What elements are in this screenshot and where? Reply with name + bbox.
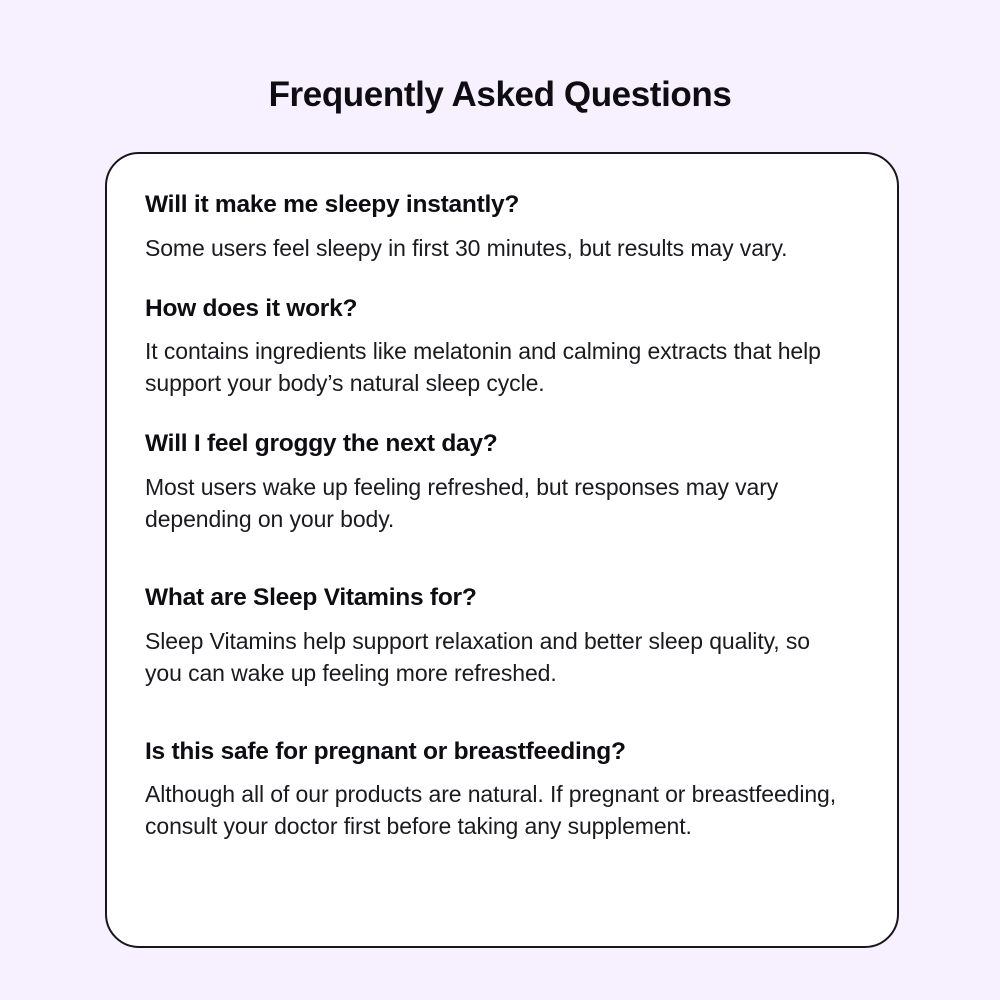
faq-item[interactable]: Will I feel groggy the next day? Most us…	[145, 429, 857, 535]
faq-list: Will it make me sleepy instantly? Some u…	[145, 190, 857, 842]
faq-answer: Although all of our products are natural…	[145, 778, 851, 842]
faq-item[interactable]: Is this safe for pregnant or breastfeedi…	[145, 737, 857, 843]
faq-answer: Sleep Vitamins help support relaxation a…	[145, 625, 851, 689]
faq-answer: Some users feel sleepy in first 30 minut…	[145, 232, 851, 264]
faq-question: How does it work?	[145, 294, 857, 325]
faq-item[interactable]: Will it make me sleepy instantly? Some u…	[145, 190, 857, 264]
faq-question: Is this safe for pregnant or breastfeedi…	[145, 737, 857, 768]
faq-answer: Most users wake up feeling refreshed, bu…	[145, 471, 851, 535]
faq-item[interactable]: What are Sleep Vitamins for? Sleep Vitam…	[145, 583, 857, 689]
faq-question: Will it make me sleepy instantly?	[145, 190, 857, 221]
faq-answer: It contains ingredients like melatonin a…	[145, 335, 851, 399]
faq-card: Will it make me sleepy instantly? Some u…	[105, 152, 899, 948]
faq-question: What are Sleep Vitamins for?	[145, 583, 857, 614]
faq-item[interactable]: How does it work? It contains ingredient…	[145, 294, 857, 400]
faq-question: Will I feel groggy the next day?	[145, 429, 857, 460]
faq-page: Frequently Asked Questions Will it make …	[0, 0, 1000, 1000]
page-title: Frequently Asked Questions	[0, 75, 1000, 115]
